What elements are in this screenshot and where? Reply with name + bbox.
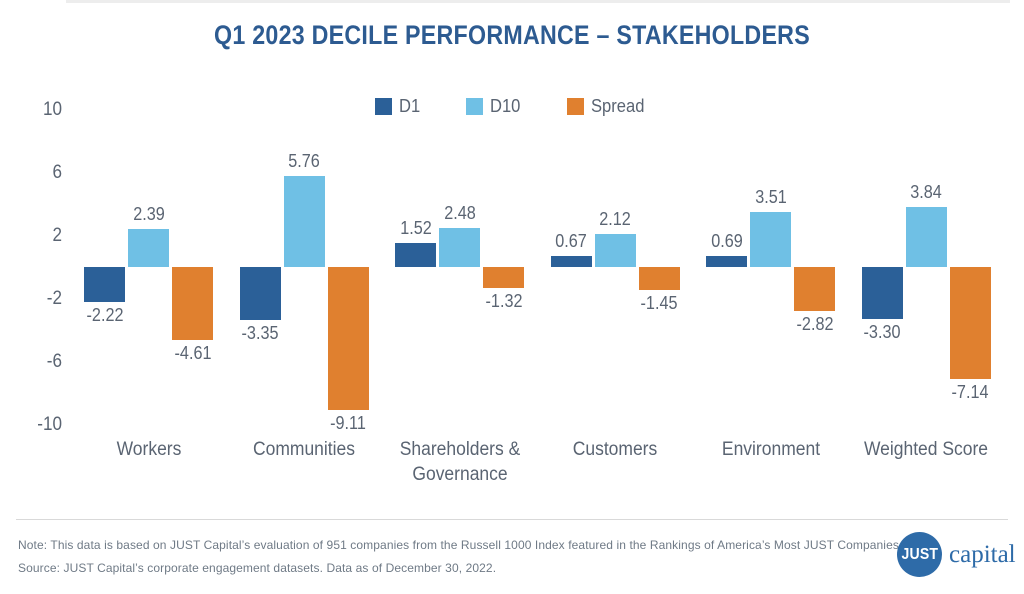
bar-d10[interactable] bbox=[906, 207, 947, 267]
bar-value-label: 3.51 bbox=[733, 187, 809, 208]
bar-value-label: -7.14 bbox=[932, 382, 1008, 403]
bar-d10[interactable] bbox=[595, 234, 636, 267]
bar-value-label: 5.76 bbox=[266, 151, 342, 172]
y-axis-tick: -10 bbox=[21, 414, 62, 436]
footer-divider bbox=[16, 519, 1008, 520]
bar-value-label: 2.39 bbox=[111, 204, 187, 225]
bar-spread[interactable] bbox=[639, 267, 680, 290]
x-axis-category-label: Weighted Score bbox=[834, 437, 1018, 462]
bar-value-label: 2.12 bbox=[577, 209, 653, 230]
bar-d1[interactable] bbox=[395, 243, 436, 267]
capital-logo-text: capital bbox=[949, 541, 1016, 569]
y-axis-tick: 10 bbox=[21, 99, 62, 121]
bar-spread[interactable] bbox=[172, 267, 213, 340]
y-axis-tick: -6 bbox=[21, 351, 62, 373]
zero-baseline bbox=[66, 0, 1010, 3]
bar-d1[interactable] bbox=[706, 256, 747, 267]
bar-value-label: -3.35 bbox=[222, 323, 298, 344]
y-axis-tick: 6 bbox=[21, 162, 62, 184]
bar-d10[interactable] bbox=[128, 229, 169, 267]
bar-spread[interactable] bbox=[950, 267, 991, 379]
bar-value-label: 2.48 bbox=[422, 203, 498, 224]
bar-d1[interactable] bbox=[551, 256, 592, 267]
just-logo-text: JUST bbox=[901, 546, 938, 564]
footnote-source: Source: JUST Capital’s corporate engagem… bbox=[18, 561, 496, 575]
just-capital-logo: JUST capital bbox=[897, 532, 1016, 577]
bar-value-label: -1.45 bbox=[621, 293, 697, 314]
bar-value-label: -2.22 bbox=[67, 305, 143, 326]
y-axis-tick: -2 bbox=[21, 288, 62, 310]
bar-spread[interactable] bbox=[483, 267, 524, 288]
chart-page: Q1 2023 DECILE PERFORMANCE – STAKEHOLDER… bbox=[0, 0, 1024, 594]
bar-d1[interactable] bbox=[862, 267, 903, 319]
bar-value-label: -4.61 bbox=[155, 343, 231, 364]
bar-spread[interactable] bbox=[328, 267, 369, 410]
bar-d1[interactable] bbox=[84, 267, 125, 302]
bar-d10[interactable] bbox=[284, 176, 325, 267]
footnote-note: Note: This data is based on JUST Capital… bbox=[18, 538, 902, 552]
bar-value-label: 3.84 bbox=[888, 182, 964, 203]
bar-value-label: -3.30 bbox=[844, 322, 920, 343]
bar-value-label: -1.32 bbox=[466, 291, 542, 312]
bar-spread[interactable] bbox=[794, 267, 835, 311]
y-axis-tick: 2 bbox=[21, 225, 62, 247]
plot-area: 1062-2-6-10 -2.222.39-4.61-3.355.76-9.11… bbox=[0, 0, 1024, 500]
bar-value-label: -9.11 bbox=[310, 413, 386, 434]
bar-d1[interactable] bbox=[240, 267, 281, 320]
bar-d10[interactable] bbox=[750, 212, 791, 267]
bar-d10[interactable] bbox=[439, 228, 480, 267]
just-logo-mark: JUST bbox=[897, 532, 942, 577]
bar-value-label: -2.82 bbox=[777, 314, 853, 335]
